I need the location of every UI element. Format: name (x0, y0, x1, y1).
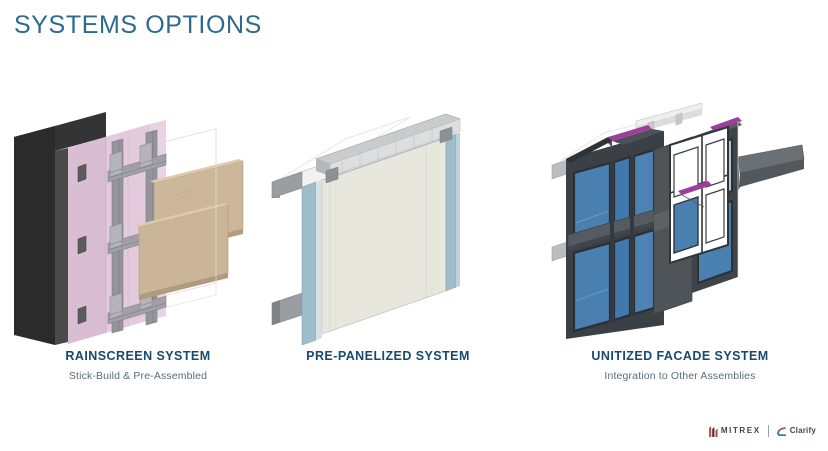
system-option-rainscreen[interactable]: RAINSCREEN SYSTEM Stick-Build & Pre-Asse… (0, 95, 276, 395)
logo-divider (768, 425, 769, 437)
system-title: RAINSCREEN SYSTEM (0, 348, 276, 365)
clarify-logo: Clarify (776, 426, 816, 437)
system-subtitle: Stick-Build & Pre-Assembled (0, 368, 276, 384)
clarify-wordmark: Clarify (790, 426, 816, 436)
mitrex-mark-icon (709, 426, 718, 437)
mitrex-wordmark: MITREX (721, 426, 761, 436)
unitized-label-block: UNITIZED FACADE SYSTEM Integration to Ot… (542, 348, 818, 384)
system-title: UNITIZED FACADE SYSTEM (542, 348, 818, 365)
unitized-facade-curtainwall-diagram (542, 95, 818, 345)
system-option-prepanelized[interactable]: PRE-PANELIZED SYSTEM (250, 95, 526, 395)
system-subtitle: Integration to Other Assemblies (542, 368, 818, 384)
rainscreen-wall-assembly-diagram (0, 95, 276, 345)
system-title: PRE-PANELIZED SYSTEM (250, 348, 526, 365)
prepanelized-label-block: PRE-PANELIZED SYSTEM (250, 348, 526, 365)
rainscreen-label-block: RAINSCREEN SYSTEM Stick-Build & Pre-Asse… (0, 348, 276, 384)
footer-logos: MITREX Clarify (709, 423, 816, 439)
pre-panelized-panel-diagram (250, 95, 526, 345)
clarify-mark-icon (776, 426, 787, 437)
mitrex-logo: MITREX (709, 426, 761, 437)
page-title: SYSTEMS OPTIONS (14, 11, 262, 40)
system-option-unitized[interactable]: UNITIZED FACADE SYSTEM Integration to Ot… (542, 95, 818, 395)
